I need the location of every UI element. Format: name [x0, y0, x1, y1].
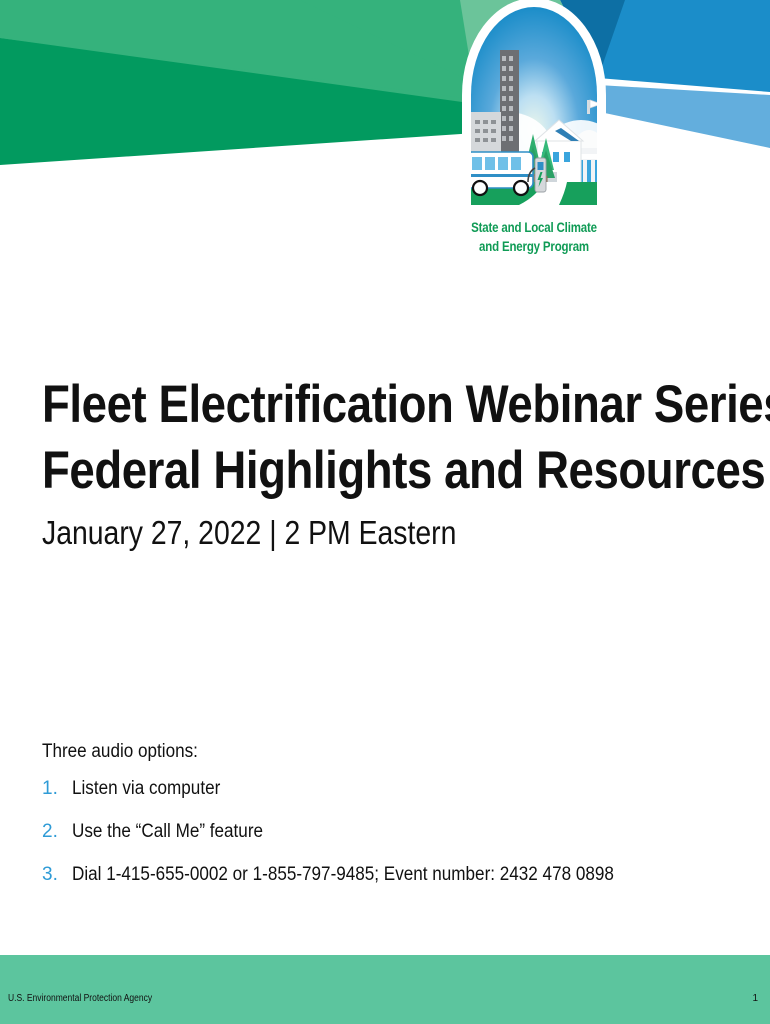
audio-option-item: 1. Listen via computer — [42, 778, 732, 800]
program-logo: State and Local Climate and Energy Progr… — [449, 0, 619, 275]
title-block: Fleet Electrification Webinar Series: Fe… — [42, 372, 732, 556]
medium-blue-ray — [598, 0, 770, 92]
light-blue-ray — [598, 85, 770, 148]
audio-option-number: 3. — [42, 864, 72, 886]
audio-option-label: Use the “Call Me” feature — [72, 821, 263, 843]
medium-green-band — [0, 0, 520, 105]
audio-option-number: 1. — [42, 778, 72, 800]
logo-text-line1: State and Local Climate — [464, 218, 603, 237]
logo-arch-illustration — [449, 0, 619, 215]
audio-option-item: 3. Dial 1-415-655-0002 or 1-855-797-9485… — [42, 864, 732, 886]
audio-options-heading: Three audio options: — [42, 740, 663, 764]
audio-option-number: 2. — [42, 821, 72, 843]
audio-option-label: Dial 1-415-655-0002 or 1-855-797-9485; E… — [72, 864, 614, 886]
audio-option-item: 2. Use the “Call Me” feature — [42, 821, 732, 843]
logo-program-name: State and Local Climate and Energy Progr… — [464, 218, 603, 256]
audio-options-block: Three audio options: 1. Listen via compu… — [42, 740, 732, 907]
footer-agency-name: U.S. Environmental Protection Agency — [8, 993, 152, 1005]
audio-option-label: Listen via computer — [72, 778, 220, 800]
electric-bus-icon — [467, 152, 533, 195]
logo-text-line2: and Energy Program — [464, 237, 603, 256]
slide-footer: U.S. Environmental Protection Agency 1 — [0, 955, 770, 1024]
footer-page-number: 1 — [752, 993, 758, 1005]
page-title-line-2: Federal Highlights and Resources — [42, 438, 635, 504]
page-title-line-1: Fleet Electrification Webinar Series: — [42, 372, 635, 438]
background-rays-decoration — [0, 0, 770, 300]
webinar-date-time: January 27, 2022 | 2 PM Eastern — [42, 510, 635, 556]
presentation-slide: State and Local Climate and Energy Progr… — [0, 0, 770, 1024]
dark-green-ray — [0, 38, 520, 165]
